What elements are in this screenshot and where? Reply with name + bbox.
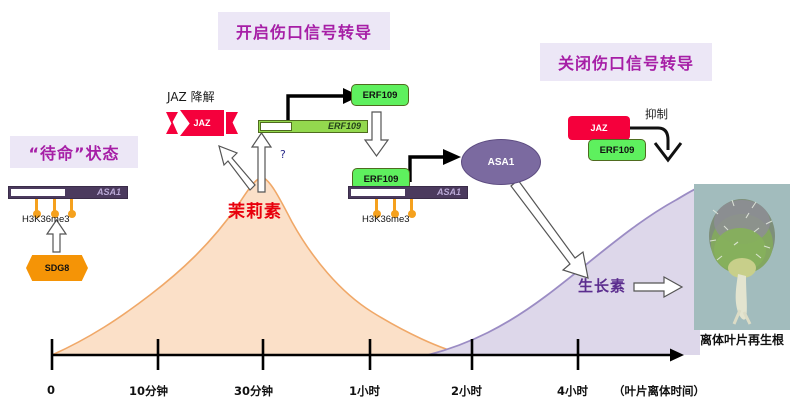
hollow-arrow-jasmonate-to-jaz bbox=[219, 146, 255, 190]
label-jaz-degradation: JAZ 降解 bbox=[167, 88, 215, 105]
hollow-arrow-asa1-to-auxin bbox=[511, 180, 588, 278]
banner-shutdown-wound-signal: 关闭伤口信号转导 bbox=[540, 43, 712, 81]
gene-label-erf109: ERF109 bbox=[328, 120, 361, 133]
hollow-arrow-auxin-to-photo bbox=[634, 277, 682, 297]
methyl-mark bbox=[393, 199, 396, 211]
axis-tick-label: 30分钟 bbox=[234, 383, 273, 399]
promoter-region bbox=[260, 122, 292, 131]
jaz-label: JAZ bbox=[193, 118, 210, 128]
hollow-arrow-erf109-down bbox=[365, 112, 388, 156]
leaf-photo-graphic bbox=[694, 184, 790, 330]
methyl-mark bbox=[410, 199, 413, 211]
figure-canvas: “待命”状态 开启伤口信号转导 关闭伤口信号转导 bbox=[0, 0, 800, 410]
banner-activate-wound-signal: 开启伤口信号转导 bbox=[218, 12, 390, 50]
methyl-mark bbox=[375, 199, 378, 211]
methyl-label-h3k36me3: H3K36me3 bbox=[362, 214, 410, 225]
axis-tick-label: 0 bbox=[47, 383, 55, 397]
methyl-mark bbox=[70, 199, 73, 211]
axis-tick-label: 10分钟 bbox=[129, 383, 168, 399]
protein-erf109-repressed: ERF109 bbox=[588, 139, 646, 161]
gene-asa1-activated: ASA1 bbox=[348, 186, 468, 199]
hollow-arrow-jasmonate-to-erf109 bbox=[252, 133, 271, 192]
methyl-label-h3k36me3: H3K36me3 bbox=[22, 214, 70, 225]
gene-erf109: ERF109 bbox=[258, 120, 368, 133]
methyl-mark bbox=[53, 199, 56, 211]
transcription-arrow-asa1 bbox=[410, 149, 461, 182]
photo-caption: 离体叶片再生根 bbox=[700, 331, 784, 348]
x-axis bbox=[52, 339, 684, 370]
gene-label-asa1: ASA1 bbox=[437, 186, 461, 199]
promoter-region bbox=[10, 188, 66, 197]
axis-tick-label: 1小时 bbox=[349, 383, 380, 399]
axis-tick-label: 2小时 bbox=[451, 383, 482, 399]
auxin-line bbox=[428, 187, 700, 355]
protein-erf109-nucleus: ERF109 bbox=[351, 84, 409, 106]
axis-tick-label: 4小时 bbox=[557, 383, 588, 399]
label-inhibit: 抑制 bbox=[645, 106, 668, 122]
photo-leaf-regeneration bbox=[694, 184, 790, 330]
jaz-degraded-fragments: JAZ bbox=[166, 110, 238, 136]
axis-x-title: （叶片离体时间） bbox=[613, 383, 705, 399]
promoter-region bbox=[350, 188, 406, 197]
protein-sdg8: SDG8 bbox=[26, 255, 88, 281]
label-question-mark: ? bbox=[280, 148, 286, 161]
gene-asa1-standby: ASA1 bbox=[8, 186, 128, 199]
protein-asa1: ASA1 bbox=[461, 139, 541, 185]
banner-standby: “待命”状态 bbox=[10, 136, 138, 168]
label-jasmonate: 茉莉素 bbox=[228, 197, 282, 222]
auxin-area bbox=[428, 187, 700, 355]
protein-jaz-repressor: JAZ bbox=[568, 116, 630, 140]
gene-label-asa1: ASA1 bbox=[97, 186, 121, 199]
methyl-mark bbox=[35, 199, 38, 211]
label-auxin: 生长素 bbox=[578, 275, 626, 296]
